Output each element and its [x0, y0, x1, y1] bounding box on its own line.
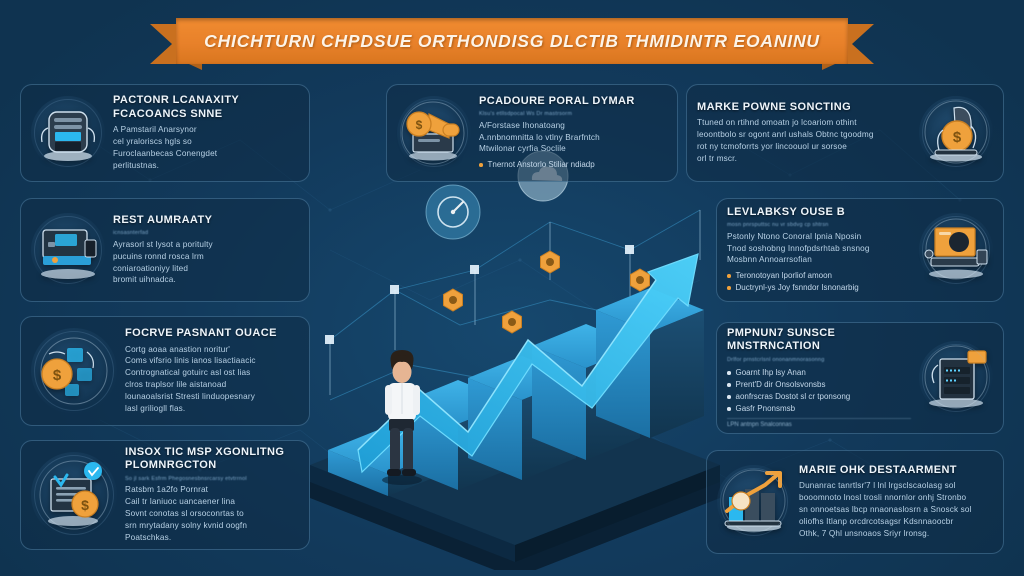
panel-subtitle: Drlfor prnstcrlsnl ononanmnorasonng	[727, 357, 911, 364]
panel-body: Cortg aoaa anastion noritur' Coms vifsri…	[125, 344, 299, 415]
panel-line: Mosbnn Annoarrsofian	[727, 254, 911, 266]
panel-text: Rest Aumraaty icnsasnterfad Ayrasorl st …	[113, 214, 299, 287]
panel-text: Insox Tic Msp Xgonlitng Plomnrgcton So j…	[125, 446, 299, 544]
gauge-node-icon	[426, 185, 480, 239]
list-item: aonfrscras Dostot sl cr tponsong	[727, 391, 911, 403]
server-rack-icon	[31, 96, 105, 170]
panel-line: Ratsbm 1a2fo Pornrat	[125, 484, 299, 496]
bullet-dot-icon	[727, 286, 731, 290]
panel-text: Pcadoure Poral Dymar Klsu's etllsdpocal …	[479, 95, 667, 172]
panel-line: A Pamstaril Anarsynor	[113, 124, 299, 136]
title-ribbon: Chichturn Chpdsue Orthondisg Dlctib Thmi…	[150, 18, 874, 70]
panel-forward-payment-source[interactable]: $ Focrve Pasnant Ouace Cortg aoaa anasti…	[20, 316, 310, 426]
coin-network-icon: $	[31, 328, 117, 414]
panel-line: lounaoalsrist Stresti linduopesnary	[125, 391, 299, 403]
bullet-label: Ductrynl-ys Joy fsnndor Isnonarbig	[736, 282, 859, 294]
panel-line: Pstonly Ntono Conoral lpnia Nposin	[727, 231, 911, 243]
panel-payment-service-monetization[interactable]: Pmpnun7 Sunsce Mnstrncation Drlfor prnst…	[716, 322, 1004, 434]
panel-subtitle: icnsasnterfad	[113, 230, 299, 237]
panel-text: Marke Powne Soncting Ttuned on rtihnd om…	[697, 101, 911, 165]
panel-stock-ticker-monitoring[interactable]: $ Insox Tic Msp Xgonlitng Plomnrgcton So…	[20, 440, 310, 550]
panel-line: Othk, 7 Qhl unsnoaos Sriyr lronsg.	[799, 528, 993, 540]
panel-line: A/Forstase Ihonatoang	[479, 120, 667, 132]
panel-title: Rest Aumraaty	[113, 214, 299, 227]
panel-title: Pactonr Lcanaxity Fcacoancs Snne	[113, 94, 299, 121]
panel-title: Levlabksy Ouse B	[727, 206, 911, 219]
panel-peer-to-peer-lending[interactable]: $ Pcadoure Poral Dymar Klsu's etllsdpoca…	[386, 84, 678, 182]
svg-text:$: $	[81, 497, 89, 513]
panel-title: Pmpnun7 Sunsce Mnstrncation	[727, 327, 911, 354]
panel-line: Cortg aoaa anastion noritur'	[125, 344, 299, 356]
ribbon-banner: Chichturn Chpdsue Orthondisg Dlctib Thmi…	[176, 18, 848, 64]
panel-subtitle: Klsu's etllsdpocal Ws Dr mastrsorm	[479, 111, 667, 118]
panel-line: rot ny tcmoforrts yor lincoouol ur sorso…	[697, 141, 911, 153]
panel-text: Levlabksy Ouse B mosn pnrsputtsc nu vr s…	[727, 206, 911, 295]
bullet-dot-icon	[727, 371, 731, 375]
bullet-dot-icon	[479, 163, 483, 167]
panel-line: booomnoto lnosl trosli nnornlor onhj Str…	[799, 492, 993, 504]
bullet-dot-icon	[727, 395, 731, 399]
panel-text: Marie Ohk Destaarment Dunanrac tanrtlsr'…	[799, 464, 993, 540]
panel-line: leoontbolo sr ogont anrl ushals Obtnc tg…	[697, 129, 911, 141]
infographic-canvas: Chichturn Chpdsue Orthondisg Dlctib Thmi…	[0, 0, 1024, 576]
bullet-label: Prent'D dir Onsolsvonsbs	[736, 379, 826, 391]
panel-title: Pcadoure Poral Dymar	[479, 95, 667, 108]
list-item: Teronotoyan lporliof amoon	[727, 270, 911, 282]
panel-line: sn onnoetsas lbcp nnaonaslosrn a Snosck …	[799, 504, 993, 516]
list-item: Goarnt Ihp lsy Anan	[727, 367, 911, 379]
panel-bullet-list: Tnernot Anstorlo Stiliar ndiadp	[479, 159, 667, 171]
panel-line: oliofhs Itlanp orcdrcotsagsr Kdsnnaoocbr	[799, 516, 993, 528]
coin-investor-icon: $	[919, 96, 993, 170]
panel-line: perlitustnas.	[113, 160, 299, 172]
panel-body: Pstonly Ntono Conoral lpnia Nposin Tnod …	[727, 231, 911, 267]
panel-rest-authority[interactable]: Rest Aumraaty icnsasnterfad Ayrasorl st …	[20, 198, 310, 302]
list-item: Ductrynl-ys Joy fsnndor Isnonarbig	[727, 282, 911, 294]
panel-market-power-sourcing[interactable]: $ Marke Powne Soncting Ttuned on rtihnd …	[686, 84, 1004, 182]
panel-line: cel yraloriscs hgls so	[113, 136, 299, 148]
panel-title: Insox Tic Msp Xgonlitng Plomnrgcton	[125, 446, 299, 473]
panel-footnote: LPN antnpn Snalconnas	[727, 418, 911, 429]
panel-subtitle: So jl sark Esfrm Phegosnesbnsrcarsy etvt…	[125, 476, 299, 483]
bullet-label: Tnernot Anstorlo Stiliar ndiadp	[488, 159, 595, 171]
panel-body: Ttuned on rtihnd omoatn jo lcoariom othi…	[697, 117, 911, 165]
panel-market-risk-assessment[interactable]: Marie Ohk Destaarment Dunanrac tanrtlsr'…	[706, 450, 1004, 554]
bullet-label: Teronotoyan lporliof amoon	[736, 270, 833, 282]
panel-line: Sovnt conotas sl orsoconrtas to	[125, 508, 299, 520]
panel-bullet-list: Goarnt Ihp lsy Anan Prent'D dir Onsolsvo…	[727, 367, 911, 415]
panel-line: Dunanrac tanrtlsr'7 l lnl lrgsclscaolasg…	[799, 480, 993, 492]
panel-body: A Pamstaril Anarsynor cel yraloriscs hgl…	[113, 124, 299, 172]
svg-text:$: $	[416, 118, 423, 132]
bullet-dot-icon	[727, 383, 731, 387]
panel-body: A/Forstase Ihonatoang A.nnbnomnitta lo v…	[479, 120, 667, 156]
bullet-label: Gasfr Pnonsmsb	[736, 403, 796, 415]
monitor-orange-icon	[919, 213, 993, 287]
panel-line: orl tr mscr.	[697, 153, 911, 165]
panel-line: bromit uihnadca.	[113, 274, 299, 286]
panel-leverage-your-business[interactable]: Levlabksy Ouse B mosn pnrsputtsc nu vr s…	[716, 198, 1004, 302]
panel-text: Pactonr Lcanaxity Fcacoancs Snne A Pamst…	[113, 94, 299, 171]
panel-line: Ttuned on rtihnd omoatn jo lcoariom othi…	[697, 117, 911, 129]
bullet-label: Goarnt Ihp lsy Anan	[736, 367, 806, 379]
panel-line: pucuins ronnd rosca lrm	[113, 251, 299, 263]
panel-passive-income-streams[interactable]: Pactonr Lcanaxity Fcacoancs Snne A Pamst…	[20, 84, 310, 182]
bullet-label: aonfrscras Dostot sl cr tponsong	[736, 391, 851, 403]
panel-title: Marie Ohk Destaarment	[799, 464, 993, 477]
invoice-dollar-icon: $	[31, 452, 117, 538]
list-item: Gasfr Pnonsmsb	[727, 403, 911, 415]
panel-subtitle: mosn pnrsputtsc nu vr sbdvg cp shtrsn	[727, 222, 911, 229]
panel-bullet-list: Teronotoyan lporliof amoon Ductrynl-ys J…	[727, 270, 911, 294]
svg-text:$: $	[953, 129, 962, 146]
coin-megaphone-icon: $	[397, 96, 471, 170]
list-item: Prent'D dir Onsolsvonsbs	[727, 379, 911, 391]
panel-line: Tnod soshobng Innofpdsrhtab snsnog	[727, 243, 911, 255]
panel-title: Marke Powne Soncting	[697, 101, 911, 114]
panel-line: clros traplsor lile aistanoad	[125, 379, 299, 391]
list-item: Tnernot Anstorlo Stiliar ndiadp	[479, 159, 667, 171]
panel-body: Dunanrac tanrtlsr'7 l lnl lrgsclscaolasg…	[799, 480, 993, 539]
server-orange-icon	[919, 341, 993, 415]
panel-body: Ayrasorl st lysot a poritulty pucuins ro…	[113, 239, 299, 287]
panel-line: Ayrasorl st lysot a poritulty	[113, 239, 299, 251]
panel-text: Pmpnun7 Sunsce Mnstrncation Drlfor prnst…	[727, 327, 911, 430]
panel-line: Poatschkas.	[125, 532, 299, 544]
svg-text:$: $	[53, 367, 62, 384]
bullet-dot-icon	[727, 274, 731, 278]
panel-title: Focrve Pasnant Ouace	[125, 327, 299, 340]
panel-line: Coms vifsrio linis ianos lisactiaacic	[125, 355, 299, 367]
growth-chart-icon	[717, 465, 791, 539]
bullet-dot-icon	[727, 407, 731, 411]
panel-text: Focrve Pasnant Ouace Cortg aoaa anastion…	[125, 327, 299, 415]
panel-line: A.nnbnomnitta lo vtlny Brarfntch	[479, 132, 667, 144]
panel-line: srn mrytadany solny kvnid oogfn	[125, 520, 299, 532]
panel-line: lasl griliogll flas.	[125, 403, 299, 415]
panel-line: Cail tr laniuoc uancaener lina	[125, 496, 299, 508]
panel-line: coniaroationiyy lited	[113, 263, 299, 275]
panel-line: Mtwilonar cyrfia Soclile	[479, 143, 667, 155]
isometric-growth-chart-illustration	[300, 150, 730, 570]
panel-body: Ratsbm 1a2fo Pornrat Cail tr laniuoc uan…	[125, 484, 299, 543]
panel-line: Contrognatical gotuirc asl ost lias	[125, 367, 299, 379]
laptop-card-icon	[31, 213, 105, 287]
page-title: Chichturn Chpdsue Orthondisg Dlctib Thmi…	[204, 31, 820, 52]
panel-line: Furoclaanbecas Conengdet	[113, 148, 299, 160]
